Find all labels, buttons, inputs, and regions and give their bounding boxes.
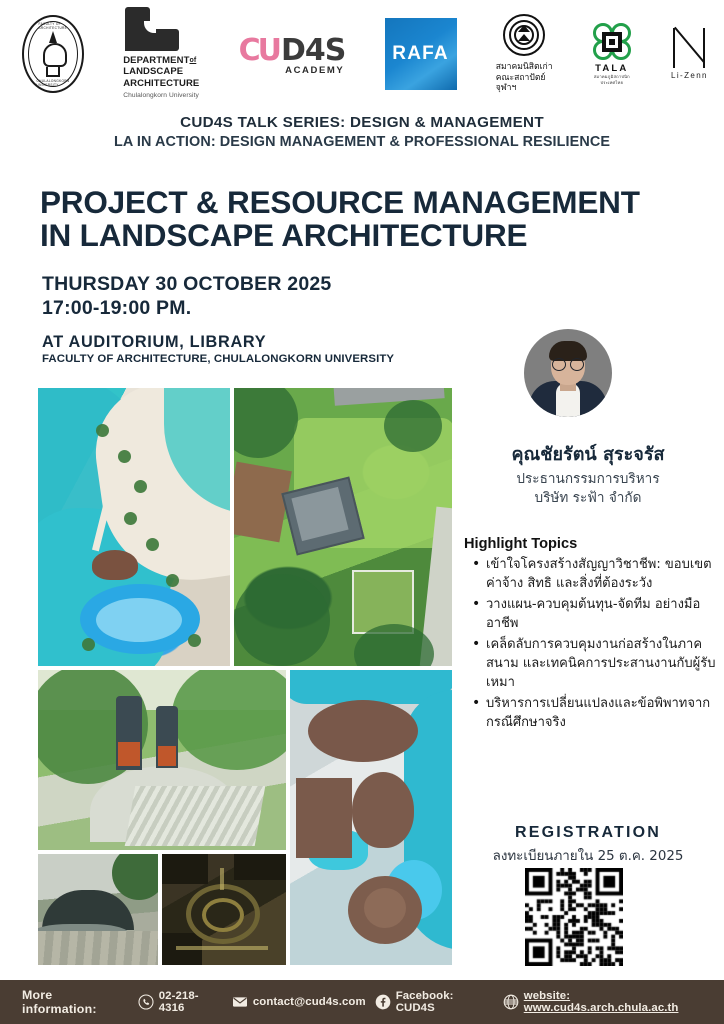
event-time: 17:00-19:00 PM.	[42, 296, 331, 320]
li-zenn-text: Li-Zenn	[671, 71, 708, 80]
faculty-seal-icon: FACULTY OF ARCHITECTURE CHULALONGKORN UN…	[22, 15, 84, 93]
gallery-image-night-courtyard-aerial	[162, 854, 286, 965]
seal-outer-top-text: FACULTY OF ARCHITECTURE	[39, 22, 68, 30]
registration-deadline: ลงทะเบียนภายใน 25 ต.ค. 2025	[452, 845, 724, 866]
footer-facebook-text: Facebook: CUD4S	[396, 990, 494, 1014]
footer-website-text: website: www.cud4s.arch.chula.ac.th	[524, 990, 724, 1014]
rafa-block-icon: RAFA	[385, 18, 457, 90]
tala-sub2: ประเทศไทย	[600, 80, 623, 85]
phone-icon	[138, 994, 154, 1010]
speaker-name: คุณชัยรัตน์ สุระจรัส	[452, 443, 724, 467]
footer-phone-text: 02-218-4316	[159, 990, 223, 1014]
gallery-image-green-landscape-aerial	[234, 388, 452, 666]
cud4s-cu-text: CU	[239, 33, 279, 68]
title-line-2: IN LANDSCAPE ARCHITECTURE	[40, 217, 527, 253]
gallery-image-plaza-render	[38, 670, 286, 850]
alumni-line1: สมาคมนิสิตเก่า	[496, 62, 553, 72]
envelope-icon	[232, 994, 248, 1010]
speaker-role-line-2: บริษัท ระฟ้า จำกัด	[534, 490, 641, 506]
footer-contact-bar: More information: 02-218-4316 contact@cu…	[0, 980, 724, 1024]
tala-text: TALA	[595, 63, 628, 74]
rafa-text: RAFA	[392, 43, 449, 65]
speaker-role-line-1: ประธานกรรมการบริหาร	[516, 471, 659, 487]
cud4s-d4s-text: D4S	[281, 33, 345, 68]
event-venue: AT AUDITORIUM, LIBRARY FACULTY OF ARCHIT…	[42, 333, 394, 367]
series-line-1: CUD4S TALK SERIES: DESIGN & MANAGEMENT	[0, 113, 724, 133]
list-item: เข้าใจโครงสร้างสัญญาวิชาชีพ: ขอบเขต ค่าจ…	[470, 556, 718, 593]
li-zenn-logo: Li-Zenn	[671, 28, 708, 80]
faculty-of-architecture-seal-logo: FACULTY OF ARCHITECTURE CHULALONGKORN UN…	[22, 15, 84, 93]
dla-line3: ARCHITECTURE	[123, 78, 199, 89]
tala-mark-icon	[592, 23, 632, 61]
list-item: เคล็ดลับการควบคุมงานก่อสร้างในภาคสนาม แล…	[470, 636, 718, 692]
speaker-avatar	[524, 329, 612, 417]
alumni-triangles-icon	[518, 24, 530, 46]
tala-sub-text: สมาคมภูมิสถาปนิก ประเทศไทย	[594, 74, 630, 85]
event-date: THURSDAY 30 OCTOBER 2025	[42, 272, 331, 296]
series-heading: CUD4S TALK SERIES: DESIGN & MANAGEMENT L…	[0, 113, 724, 152]
registration-qr-code[interactable]	[525, 868, 623, 966]
highlight-topics-title: Highlight Topics	[464, 536, 577, 552]
poster: FACULTY OF ARCHITECTURE CHULALONGKORN UN…	[0, 0, 724, 1024]
venue-line-2: FACULTY OF ARCHITECTURE, CHULALONGKORN U…	[42, 352, 394, 367]
li-zenn-mark-icon	[671, 28, 707, 68]
cud4s-academy-logo: CU D4S ACADEMY	[239, 33, 346, 76]
cud4s-academy-text: ACADEMY	[285, 65, 344, 76]
registration-title: REGISTRATION	[452, 824, 724, 842]
rafa-logo: RAFA	[385, 18, 457, 90]
footer-facebook-item[interactable]: Facebook: CUD4S	[375, 990, 494, 1014]
facebook-icon	[375, 994, 391, 1010]
chula-alumni-logo: สมาคมนิสิตเก่า คณะสถาปัตย์ จุฬาฯ	[496, 14, 553, 94]
footer-label: More information:	[22, 988, 129, 1016]
highlight-topics-list: เข้าใจโครงสร้างสัญญาวิชาชีพ: ขอบเขต ค่าจ…	[470, 556, 718, 735]
alumni-seal-icon	[503, 14, 545, 56]
gallery-image-resort-roofs-aerial	[290, 670, 452, 965]
globe-icon	[503, 994, 519, 1010]
logo-bar: FACULTY OF ARCHITECTURE CHULALONGKORN UN…	[0, 0, 724, 108]
department-landscape-architecture-logo: DEPARTMENTof LANDSCAPE ARCHITECTURE Chul…	[123, 7, 199, 102]
dla-sub: Chulalongkorn University	[123, 90, 199, 101]
page-title: PROJECT & RESOURCE MANAGEMENT IN LANDSCA…	[40, 186, 710, 252]
list-item: วางแผน-ควบคุมต้นทุน-จัดทีม อย่างมืออาชีพ	[470, 596, 718, 633]
venue-line-1: AT AUDITORIUM, LIBRARY	[42, 333, 394, 352]
footer-email-text: contact@cud4s.com	[253, 996, 366, 1008]
seal-base-icon	[46, 67, 60, 77]
speaker-role: ประธานกรรมการบริหาร บริษัท ระฟ้า จำกัด	[452, 470, 724, 507]
alumni-line2: คณะสถาปัตย์	[496, 73, 546, 83]
footer-phone-item[interactable]: 02-218-4316	[138, 990, 223, 1014]
dla-mark-icon	[125, 7, 183, 51]
tala-logo: TALA สมาคมภูมิสถาปนิก ประเทศไทย	[592, 23, 632, 85]
dla-line1: DEPARTMENT	[123, 55, 189, 66]
gallery-image-tunnel-amphitheatre	[38, 854, 158, 965]
seal-stupa-icon	[40, 31, 66, 77]
footer-email-item[interactable]: contact@cud4s.com	[232, 994, 366, 1010]
alumni-line3: จุฬาฯ	[496, 83, 517, 93]
list-item: บริหารการเปลี่ยนแปลงและข้อพิพาทจากกรณีศึ…	[470, 695, 718, 732]
alumni-logo-text: สมาคมนิสิตเก่า คณะสถาปัตย์ จุฬาฯ	[496, 62, 553, 94]
series-line-2: LA IN ACTION: DESIGN MANAGEMENT & PROFES…	[0, 133, 724, 152]
footer-website-item[interactable]: website: www.cud4s.arch.chula.ac.th	[503, 990, 724, 1014]
event-datetime: THURSDAY 30 OCTOBER 2025 17:00-19:00 PM.	[42, 272, 331, 320]
tala-sub1: สมาคมภูมิสถาปนิก	[594, 74, 630, 79]
dla-of: of	[189, 57, 196, 64]
title-line-1: PROJECT & RESOURCE MANAGEMENT	[40, 184, 640, 220]
dla-line2: LANDSCAPE	[123, 66, 183, 77]
dla-logo-text: DEPARTMENTof LANDSCAPE ARCHITECTURE Chul…	[123, 55, 199, 102]
project-image-gallery	[38, 388, 452, 965]
gallery-image-resort-pool-aerial	[38, 388, 230, 666]
glasses-icon	[552, 358, 584, 369]
seal-outer-bottom-text: CHULALONGKORN UNIVERSITY	[37, 79, 70, 87]
